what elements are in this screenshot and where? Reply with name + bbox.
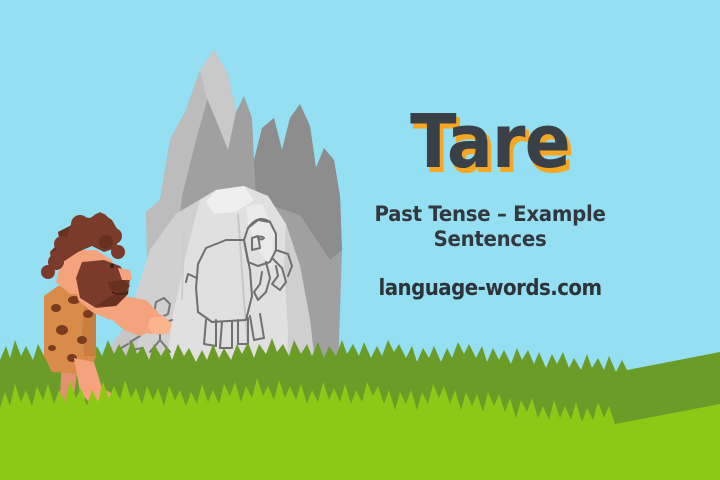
title-container: Tare (340, 96, 640, 188)
page-title: Tare (352, 96, 628, 188)
site-url: language-words.com (355, 276, 625, 302)
subtitle-line-2: Sentences (349, 227, 631, 252)
text-panel: Tare Past Tense – Example Sentences lang… (340, 96, 640, 302)
subtitle: Past Tense – Example Sentences (349, 202, 631, 252)
subtitle-line-1: Past Tense – Example (349, 202, 631, 227)
poster-canvas: Tare Past Tense – Example Sentences lang… (0, 0, 720, 480)
